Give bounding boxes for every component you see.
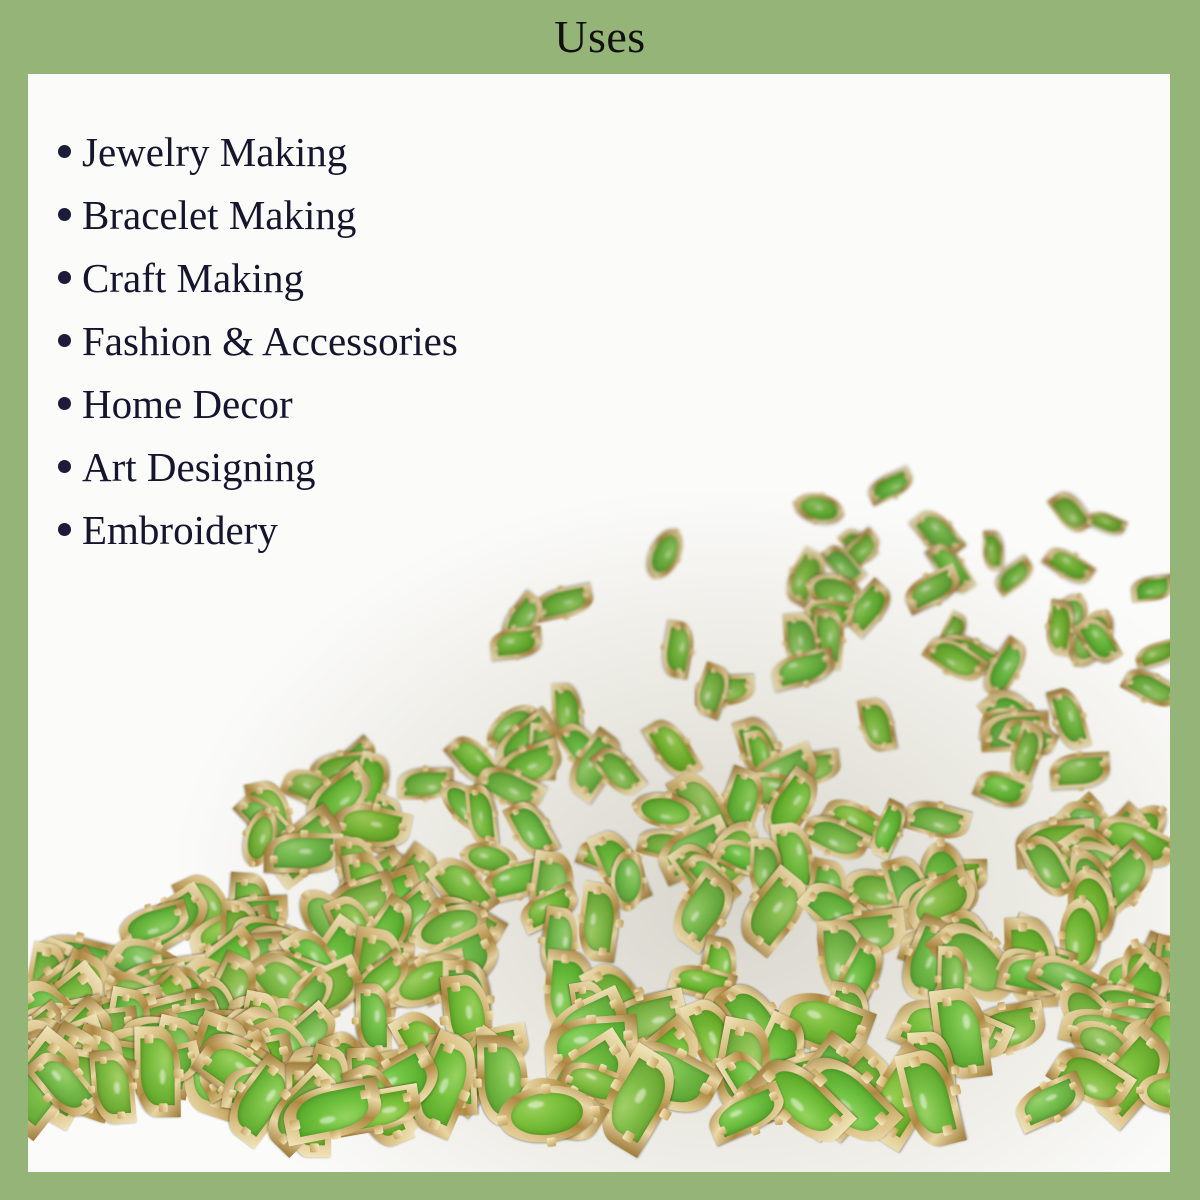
bead-setting [29,928,120,995]
bead-prong [69,1020,80,1031]
bead-prong [152,954,163,965]
bead-prong [81,1061,89,1069]
bead-prong [124,1022,133,1031]
bead-highlight [87,982,98,996]
bead [28,1044,89,1108]
bead-prong [28,1069,34,1077]
bead-prong [28,1112,29,1126]
bead-highlight [28,1014,30,1025]
bead-prong [36,1060,47,1071]
bead [28,1015,43,1074]
bead-prong [29,1037,39,1047]
bead-prong [73,1068,83,1078]
bead [28,1012,107,1098]
bead-prong [38,1071,50,1083]
bead-highlight [135,998,150,1012]
bead-prong [63,978,73,988]
bead [28,999,74,1074]
bead-prong [28,1032,41,1045]
bead-prong [119,1034,131,1046]
bead-prong [43,1019,56,1032]
bead [28,1013,113,1088]
bead-highlight [44,1070,60,1087]
bead-setting [28,1013,113,1088]
bullet-icon [58,145,71,158]
bead-prong [71,1006,83,1018]
bullet-icon [58,271,71,284]
bead-prong [159,998,167,1006]
bead-prong [72,999,81,1008]
bead-stone [28,1023,31,1067]
bead-prong [43,1011,53,1021]
bead-prong [87,1055,99,1067]
bead-highlight [49,1066,62,1081]
bead-setting [28,1007,99,1093]
bullet-icon [58,460,71,473]
list-item: Fashion & Accessories [58,309,698,372]
bead-stone [28,1048,46,1105]
bead-stone [79,1040,125,1097]
bead-prong [52,1066,64,1078]
bead-setting [28,941,73,1029]
bead-highlight [98,1054,107,1066]
bead-highlight [33,1003,42,1018]
bead-stone [43,1001,98,1041]
bead [28,1008,103,1116]
bead-prong [124,933,133,942]
bead-prong [71,1045,82,1056]
bead-setting [28,1022,98,1120]
bead-highlight [112,1066,128,1074]
bead-highlight [162,1023,176,1031]
bead-stone [28,1041,81,1126]
bead-prong [51,1054,60,1063]
bead-highlight [165,994,177,1006]
bead-prong [62,997,70,1005]
bead-stone [28,985,57,1053]
bead-stone [28,1025,68,1098]
bead-prong [158,1045,167,1054]
bead-prong [106,988,117,999]
bead-highlight [68,971,82,978]
bead-prong [138,1023,149,1034]
bead-prong [93,1066,102,1075]
bead-prong [144,904,153,913]
bead-prong [104,974,116,986]
bead-prong [33,1057,46,1070]
bead-setting [28,995,125,1092]
bead-stone [28,1025,40,1086]
bead-prong [165,995,174,1004]
bead [28,1007,99,1093]
bead-highlight [28,1040,35,1055]
bead-prong [55,1044,63,1052]
bead-prong [68,1020,81,1033]
bead [67,984,170,1051]
bead-prong [93,1007,102,1016]
bead-setting [28,1043,102,1126]
bead-prong [44,987,52,995]
bead-prong [118,1111,126,1119]
list-item: Bracelet Making [58,183,698,246]
bead-highlight [114,1082,120,1094]
bead-prong [154,1057,166,1069]
bead-stone [41,1007,113,1079]
bead-prong [62,1058,72,1068]
bead [28,1038,53,1115]
bead-prong [46,1010,57,1021]
bead-stone [43,1050,122,1107]
bead-prong [111,1076,122,1087]
bead-prong [74,932,84,942]
bead-prong [167,1012,178,1023]
bead-highlight [159,1070,165,1085]
bead-highlight [88,1020,101,1026]
bead-highlight [50,999,61,1006]
bead-prong [97,1022,108,1033]
bead [134,1027,180,1118]
bead-highlight [70,1020,82,1027]
bead-prong [144,1035,153,1044]
bead-highlight [153,1062,165,1069]
bead [89,1048,137,1125]
bead-prong [151,983,163,995]
bead-highlight [154,980,165,987]
bead-setting [50,999,128,1081]
bead-prong [113,953,123,963]
bead-prong [144,1026,152,1034]
bead-prong [35,1062,45,1072]
bead-stone [28,972,101,1044]
bead-prong [58,1034,70,1046]
bead-prong [60,1091,70,1101]
bead-setting [33,955,119,1006]
bead-stone [28,1035,87,1108]
bead-highlight [66,996,82,1010]
bead-prong [883,473,889,479]
bead-prong [84,1103,95,1114]
bead-highlight [46,976,56,990]
bead [43,947,119,1040]
bead-prong [31,969,42,980]
bead [28,960,115,1058]
bead-prong [37,955,47,965]
bead [28,941,73,1029]
bead-highlight [64,956,78,965]
bead-prong [34,1098,42,1106]
bead-stone [28,1035,74,1101]
bead-prong [54,1095,68,1109]
bead-prong [29,1071,43,1085]
bead [58,1032,159,1094]
bead-prong [112,1057,121,1066]
bead [28,1003,101,1060]
bead-prong [95,998,106,1009]
bead-prong [42,1093,52,1103]
bead-setting [28,960,115,1058]
bead-prong [46,1041,60,1055]
bead-highlight [28,1067,35,1079]
bead [28,1016,42,1124]
bead-prong [65,1058,76,1069]
bead-prong [82,1043,94,1055]
bead-prong [44,1044,55,1055]
bead-prong [38,983,51,996]
bead-prong [153,942,163,952]
bead-stone [75,1031,135,1077]
use-label: Bracelet Making [82,191,356,239]
bead-prong [107,1034,116,1043]
bead-highlight [65,1074,79,1091]
bead-setting [89,1048,137,1125]
content-panel: Jewelry Making Bracelet Making Craft Mak… [28,74,1170,1172]
bead [28,1017,33,1097]
bead-prong [33,1012,45,1024]
bead-highlight [132,954,146,965]
bead-stone [28,1022,90,1102]
bead-highlight [160,1040,177,1050]
bead-prong [144,996,155,1007]
use-label: Home Decor [82,380,293,428]
bead-prong [41,964,53,976]
bead-highlight [892,483,900,489]
bead-highlight [28,1035,36,1046]
bead-highlight [28,1073,38,1082]
bead [29,1040,136,1117]
bead-prong [129,1082,137,1090]
bead-prong [41,1096,51,1106]
bead-prong [72,990,80,998]
bead-stone [124,905,182,944]
bead-setting [55,1022,133,1123]
bead-prong [29,1100,38,1109]
bead-setting [28,1016,42,1124]
bead-prong [88,1027,99,1038]
list-item: Art Designing [58,435,698,498]
bead-prong [70,1036,78,1044]
bead-prong [142,985,153,996]
bead-prong [147,1038,156,1047]
bead-setting [28,1003,101,1060]
bead-prong [53,1017,61,1025]
bullet-icon [58,523,71,536]
bead-setting [28,1008,103,1116]
bead-prong [124,1015,133,1024]
bead-stone [28,1018,88,1082]
bead-prong [69,1031,80,1042]
bead-prong [28,983,40,996]
bead-highlight [50,1015,64,1031]
bead-highlight [134,1041,150,1051]
bead-prong [77,973,90,986]
bead-prong [79,958,90,969]
bead [71,1030,134,1107]
bead [56,1005,140,1052]
bead-prong [86,1022,95,1031]
bead-prong [114,1069,126,1081]
bead [28,961,69,1061]
bead-stone [72,1040,147,1086]
bead-highlight [45,1047,61,1060]
bead-stone [41,936,108,986]
bead-setting [28,1015,48,1097]
bead-prong [99,1056,107,1064]
bead-pile-shadow [178,494,1170,1172]
bead-highlight [28,1014,32,1029]
bead-prong [52,979,63,990]
bead-prong [167,1082,176,1091]
bead-prong [152,934,162,944]
use-label: Fashion & Accessories [82,317,458,365]
bead-highlight [35,986,42,1000]
bead-prong [129,1069,138,1078]
bead-prong [41,1069,50,1078]
bead-highlight [127,1009,134,1022]
bead-prong [51,1086,59,1094]
bead-setting [28,1023,82,1113]
bead-stone [34,1054,92,1116]
bead-prong [168,1084,177,1093]
bead-setting [28,1020,113,1131]
bead-setting [28,982,75,1060]
bead-prong [47,1106,60,1119]
bead-prong [121,994,129,1002]
bead-prong [115,1085,124,1094]
bead-prong [108,1048,119,1059]
bead-highlight [164,1015,179,1022]
bead-prong [47,1008,58,1019]
bead-prong [120,1019,132,1031]
bead-prong [83,1073,92,1082]
bead-prong [97,1044,106,1053]
bead-prong [28,1029,39,1040]
bead-prong [56,945,67,956]
bead-setting [134,1027,180,1118]
bead-prong [29,1030,42,1043]
bead-prong [99,1080,110,1091]
infographic-page: Uses Jewelry Making Bracelet Making Craf… [0,0,1200,1200]
bead-prong [47,994,58,1005]
bead-stone [110,1027,184,1082]
list-item: Embroidery [58,498,698,561]
bead-prong [51,1019,63,1031]
bead-stone [131,968,185,1006]
use-label: Art Designing [82,443,315,491]
bead [28,1015,48,1097]
bead [64,1023,145,1085]
list-item: Craft Making [58,246,698,309]
bead-prong [86,1008,98,1020]
bead-prong [53,1077,65,1089]
bead [28,970,101,1076]
bead-prong [114,979,123,988]
bead-prong [28,1014,34,1022]
bead-stone [28,1023,100,1078]
bead-setting [28,1026,95,1141]
bead [28,1026,95,1141]
bead [28,973,65,1065]
bead-setting [28,1043,94,1093]
bead-prong [125,1050,133,1058]
bead-prong [67,1044,81,1058]
bead-highlight [50,1069,62,1082]
bead-prong [40,1032,51,1043]
bead [28,982,75,1060]
bead-stone [95,1058,131,1115]
bead [28,995,125,1092]
bead-prong [28,1032,34,1046]
bead-prong [149,969,157,977]
bead-prong [55,1074,68,1087]
bead-prong [28,1056,30,1065]
bead [92,959,190,1053]
bead-prong [67,1079,79,1091]
bead-prong [28,1025,30,1035]
bead-setting [28,1014,44,1095]
page-title: Uses [0,0,1200,74]
bead-prong [80,1044,89,1053]
bead-stone [53,959,109,1028]
bead-stone [28,952,66,1017]
bead-stone [61,1010,119,1070]
bead-stone [65,1035,123,1110]
bead-setting [28,961,69,1061]
bead [33,955,119,1006]
bead-prong [41,1039,54,1052]
bead-prong [30,1057,39,1066]
bead-prong [68,1067,79,1078]
bead-setting [67,984,170,1051]
bead-prong [153,937,162,946]
bead-prong [90,1005,98,1013]
bead-stone [28,1025,35,1085]
bead-prong [28,1059,34,1068]
bead-highlight [51,1058,60,1072]
bead [50,999,128,1081]
bead-stone [108,996,149,1054]
bead-setting [28,936,90,1028]
bead-stone [28,1044,50,1101]
bead-prong [40,1069,48,1077]
bead-highlight [45,1057,57,1064]
bead-setting [64,1023,145,1085]
bullet-icon [58,208,71,221]
uses-list: Jewelry Making Bracelet Making Craft Mak… [58,120,698,561]
bead-prong [138,1076,147,1085]
bead-highlight [96,1072,107,1088]
bead [28,1035,49,1117]
bead-prong [80,1083,93,1096]
bead-stone [28,1052,76,1100]
bead-prong [88,1086,96,1094]
bead-prong [73,1044,82,1053]
bead-prong [33,1048,43,1058]
bullet-icon [58,334,71,347]
bead-prong [160,896,170,906]
bead-setting [29,1040,136,1117]
bead-prong [158,995,169,1006]
bead-prong [42,1028,50,1036]
bead [55,1022,133,1123]
bead [28,981,89,1030]
bead-prong [102,1018,110,1026]
bead-stone [114,937,180,995]
bead-highlight [118,1019,134,1028]
bead-stone [28,1008,63,1064]
bead-setting [28,999,74,1074]
bead [28,1034,64,1111]
bead-setting [28,973,65,1065]
